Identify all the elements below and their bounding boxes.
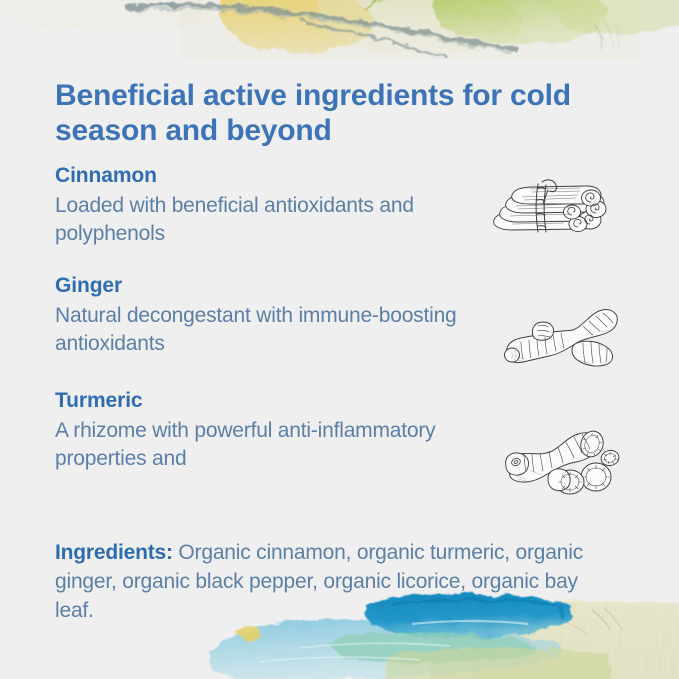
ingredient-name-turmeric: Turmeric: [55, 388, 475, 415]
ingredients-label: Ingredients:: [55, 541, 173, 564]
content-area: Beneficial active ingredients for cold s…: [0, 0, 679, 679]
page-title: Beneficial active ingredients for cold s…: [55, 78, 615, 148]
ingredient-description-turmeric: A rhizome with powerful anti-inflammator…: [55, 417, 475, 473]
turmeric-root-icon: [500, 422, 624, 498]
product-info-panel: Beneficial active ingredients for cold s…: [0, 0, 679, 679]
ingredient-name-ginger: Ginger: [55, 273, 475, 300]
ingredient-block-turmeric: Turmeric A rhizome with powerful anti-in…: [55, 388, 475, 473]
ingredient-block-ginger: Ginger Natural decongestant with immune-…: [55, 273, 475, 358]
ginger-root-icon: [497, 302, 625, 374]
ingredients-statement: Ingredients: Organic cinnamon, organic t…: [55, 539, 615, 625]
ingredient-description-ginger: Natural decongestant with immune-boostin…: [55, 302, 475, 358]
ingredient-block-cinnamon: Cinnamon Loaded with beneficial antioxid…: [55, 163, 475, 248]
cinnamon-sticks-icon: [486, 176, 616, 248]
ingredient-name-cinnamon: Cinnamon: [55, 163, 475, 190]
ingredient-description-cinnamon: Loaded with beneficial antioxidants and …: [55, 192, 475, 248]
